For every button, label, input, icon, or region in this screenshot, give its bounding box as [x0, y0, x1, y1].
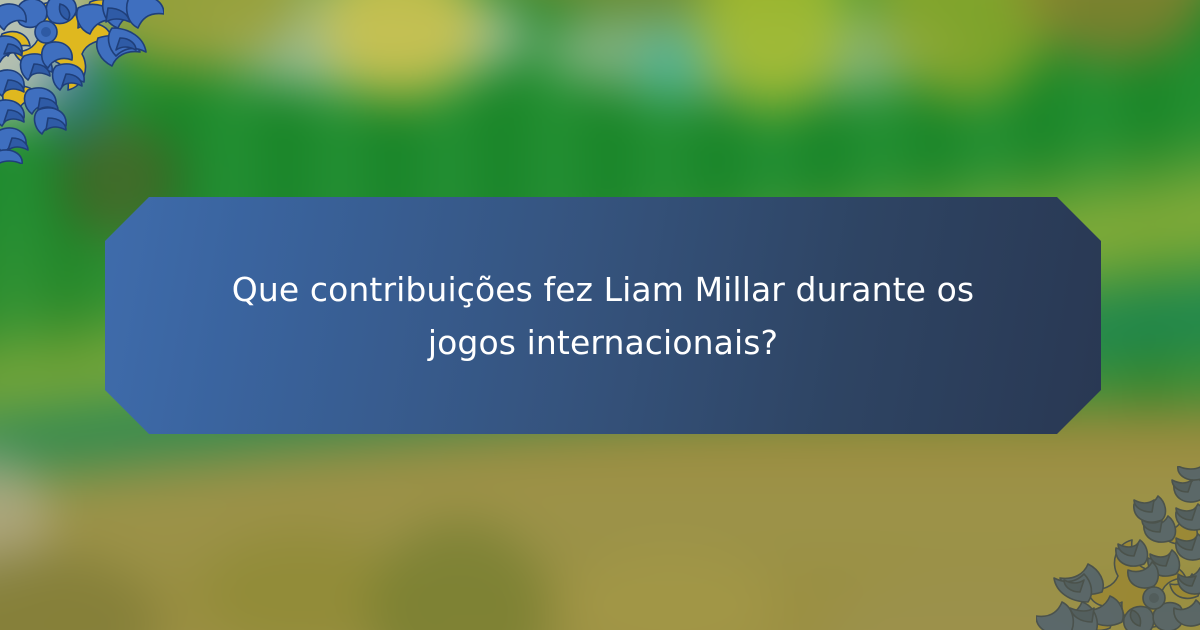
floral-corner-ornament-bottom-right [1036, 466, 1200, 630]
question-banner: Que contribuições fez Liam Millar durant… [105, 197, 1101, 434]
background-blob [640, 30, 700, 100]
social-card: Que contribuições fez Liam Millar durant… [0, 0, 1200, 630]
question-title: Que contribuições fez Liam Millar durant… [203, 263, 1003, 369]
floral-corner-ornament-top-left [0, 0, 164, 164]
